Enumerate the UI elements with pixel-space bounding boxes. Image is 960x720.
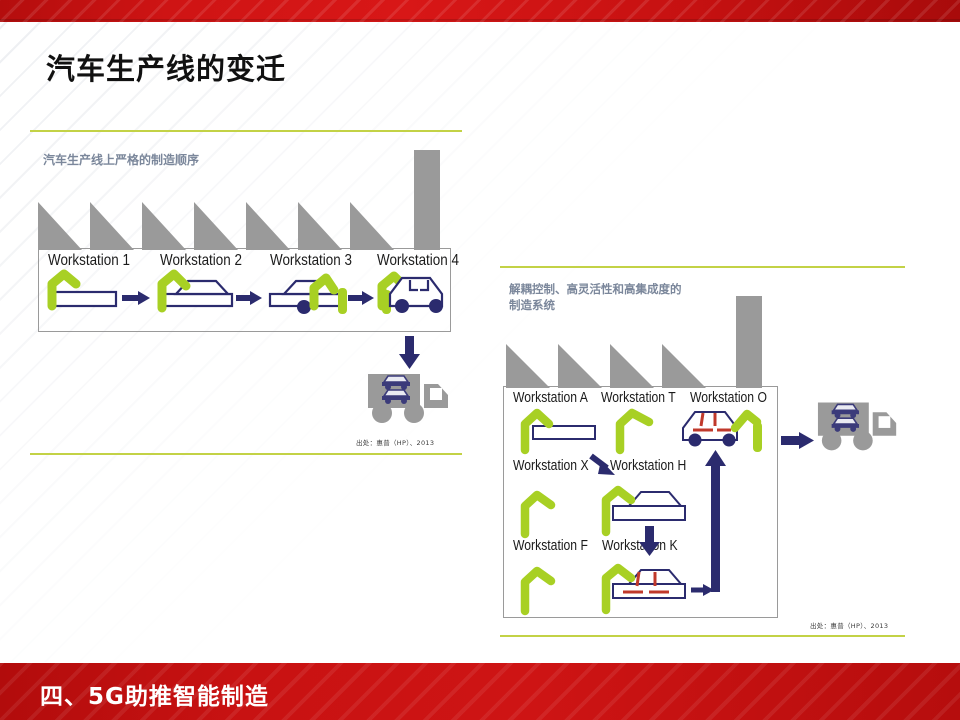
left-panel-heading: 汽车生产线上严格的制造顺序: [43, 152, 199, 168]
right-panel-top-rule: [500, 266, 905, 268]
cell-f-group: [525, 571, 551, 611]
right-workstation-label-a: Workstation A: [513, 390, 588, 406]
cell-t-group: [620, 413, 649, 450]
right-diagram-panel: 解耦控制、高灵活性和高集成度的 制造系统 Workstation A Works…: [500, 266, 920, 638]
right-panel-source: 出处：惠普（HP）、2013: [810, 620, 888, 630]
slide-canvas: 汽车生产线的变迁 汽车生产线上严格的制造顺序 Wo: [0, 0, 960, 720]
station-4-group: [382, 276, 443, 314]
left-workstation-label-4: Workstation 4: [377, 252, 459, 270]
left-output-truck-icon: [366, 368, 456, 426]
left-workstation-label-2: Workstation 2: [160, 252, 242, 270]
cell-a-group: [525, 413, 595, 450]
station-3-group: [270, 278, 347, 314]
left-arrow-3: [348, 291, 374, 305]
left-workstation-label-1: Workstation 1: [48, 252, 130, 270]
left-output-arrow: [397, 336, 423, 370]
arrow-h-to-k: [639, 526, 660, 556]
left-diagram-panel: 汽车生产线上严格的制造顺序 Workstation 1 Workstation …: [30, 130, 470, 455]
station-1-group: [50, 274, 116, 306]
page-title: 汽车生产线的变迁: [46, 46, 286, 88]
cell-k-group: [606, 568, 685, 610]
station-2-group: [160, 274, 232, 308]
left-factory-roofline: [36, 192, 456, 250]
right-factory-roofline: [504, 336, 794, 388]
right-panel-heading: 解耦控制、高灵活性和高集成度的 制造系统: [509, 282, 682, 313]
left-arrow-1: [122, 291, 150, 305]
cell-o-group: [683, 412, 762, 452]
top-red-banner: [0, 0, 960, 22]
left-panel-source: 出处：惠普（HP）、2013: [356, 437, 434, 447]
cell-x-group: [525, 495, 551, 534]
left-panel-top-rule: [30, 130, 462, 132]
right-cell-graphics: [503, 406, 779, 618]
right-workstation-label-o: Workstation O: [690, 390, 767, 406]
arrow-feedback-up: [705, 450, 726, 592]
section-footer-title: 四、5G助推智能制造: [40, 677, 269, 711]
right-workstation-label-t: Workstation T: [601, 390, 676, 406]
left-panel-bottom-rule: [30, 453, 462, 455]
left-production-line-graphics: [38, 272, 450, 332]
top-banner-shadow: [0, 19, 960, 22]
right-output-arrow: [781, 430, 815, 450]
arrow-k-right: [691, 584, 714, 596]
right-output-truck-icon: [816, 396, 904, 454]
bottom-red-banner: 四、5G助推智能制造: [0, 663, 960, 720]
right-panel-bottom-rule: [500, 635, 905, 637]
cell-h-group: [606, 490, 685, 532]
left-workstation-label-3: Workstation 3: [270, 252, 352, 270]
left-arrow-2: [236, 291, 262, 305]
arrow-a-to-h: [591, 456, 615, 475]
